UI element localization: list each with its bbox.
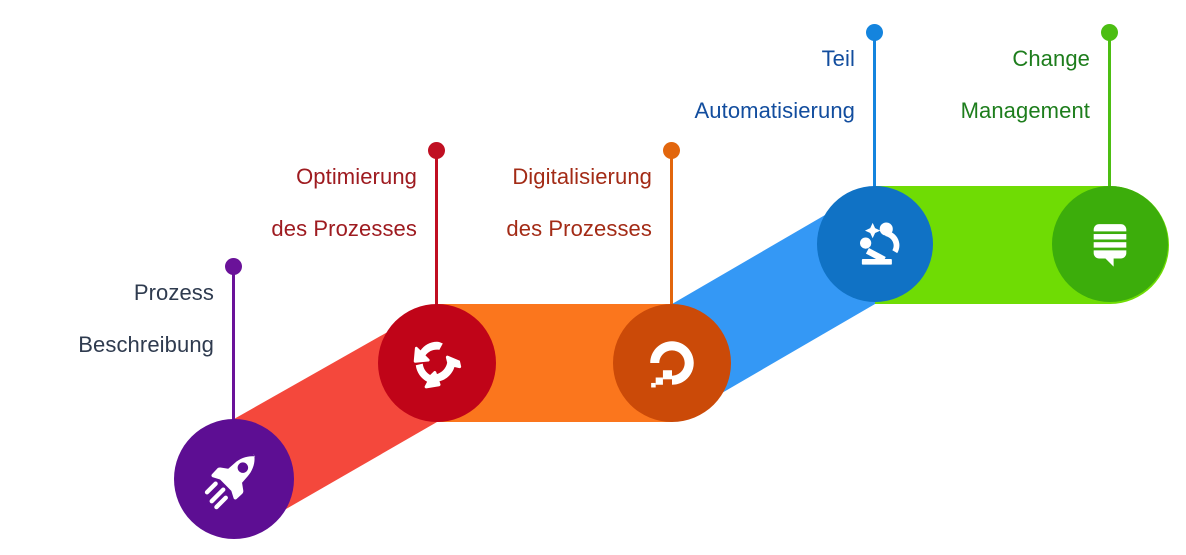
callout-step-1-line-2: Beschreibung [0, 332, 214, 358]
callout-step-3: Digitalisierung des Prozesses [418, 138, 652, 268]
callout-step-2-line-1: Optimierung [183, 164, 417, 190]
callout-step-5: Change Management [856, 20, 1090, 150]
infographic-canvas: Prozess Beschreibung Optimierung des Pro… [0, 0, 1186, 555]
callout-step-4-line-2: Automatisierung [621, 98, 855, 124]
step-node-3[interactable] [613, 304, 731, 422]
callout-step-5-line-1: Change [856, 46, 1090, 72]
refresh-cycle-icon [406, 332, 468, 394]
callout-step-1: Prozess Beschreibung [0, 254, 214, 384]
marker-dot-step-5 [1101, 24, 1118, 41]
robot-arm-icon [845, 214, 905, 274]
callout-step-4: Teil Automatisierung [621, 20, 855, 150]
step-node-5[interactable] [1052, 186, 1168, 302]
callout-step-5-line-2: Management [856, 98, 1090, 124]
callout-step-3-line-1: Digitalisierung [418, 164, 652, 190]
rocket-icon [201, 446, 267, 512]
step-node-1[interactable] [174, 419, 294, 539]
callout-step-4-line-1: Teil [621, 46, 855, 72]
digital-ring-icon [643, 334, 701, 392]
callout-step-2: Optimierung des Prozesses [183, 138, 417, 268]
callout-step-2-line-2: des Prozesses [183, 216, 417, 242]
step-node-2[interactable] [378, 304, 496, 422]
chat-lines-icon [1081, 215, 1139, 273]
callout-step-1-line-1: Prozess [0, 280, 214, 306]
callout-step-3-line-2: des Prozesses [418, 216, 652, 242]
step-node-4[interactable] [817, 186, 933, 302]
